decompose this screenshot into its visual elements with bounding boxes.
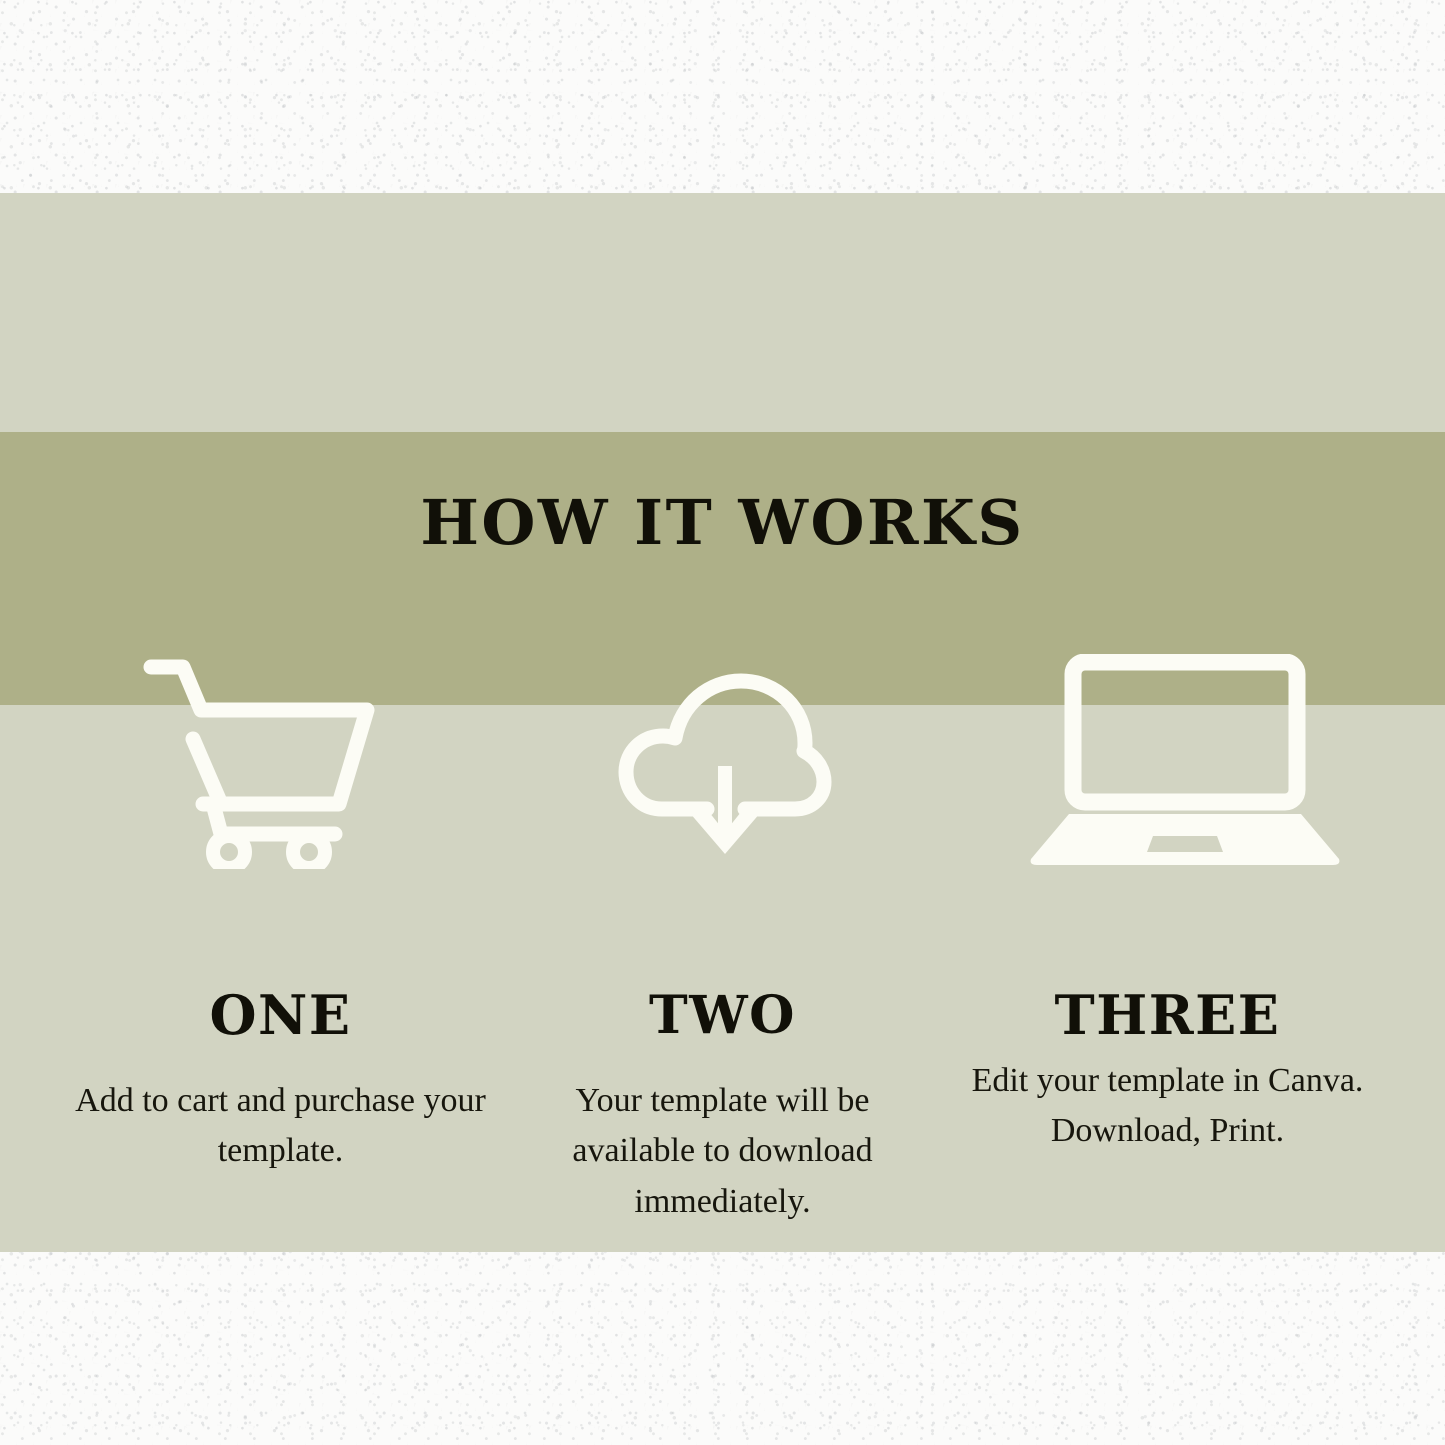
step-heading-two: TWO: [520, 990, 925, 1042]
step-body-one: Add to cart and purchase your template.: [58, 1076, 503, 1177]
icon-row: [0, 625, 1445, 898]
icon-cell-three: [925, 654, 1445, 869]
step-column-three: THREE Edit your template in Canva. Downl…: [945, 898, 1390, 1157]
poster-canvas: HOW IT WORKS: [0, 0, 1445, 1445]
step-body-two: Your template will be available to downl…: [520, 1076, 925, 1227]
step-body-three: Edit your template in Canva. Download, P…: [945, 1056, 1390, 1157]
step-heading-three: THREE: [945, 988, 1390, 1042]
icon-cell-two: [525, 654, 925, 869]
laptop-icon: [1025, 654, 1345, 869]
shopping-cart-icon: [143, 654, 383, 869]
step-column-one: ONE Add to cart and purchase your templa…: [58, 898, 503, 1177]
how-it-works-card: HOW IT WORKS: [0, 193, 1445, 1252]
title-band: [0, 193, 1445, 432]
step-heading-one: ONE: [58, 988, 503, 1042]
icon-cell-one: [0, 654, 525, 869]
page-title: HOW IT WORKS: [0, 492, 1445, 554]
cloud-download-icon: [615, 654, 835, 869]
steps-columns: ONE Add to cart and purchase your templa…: [0, 898, 1445, 1445]
step-column-two: TWO Your template will be available to d…: [520, 898, 925, 1227]
